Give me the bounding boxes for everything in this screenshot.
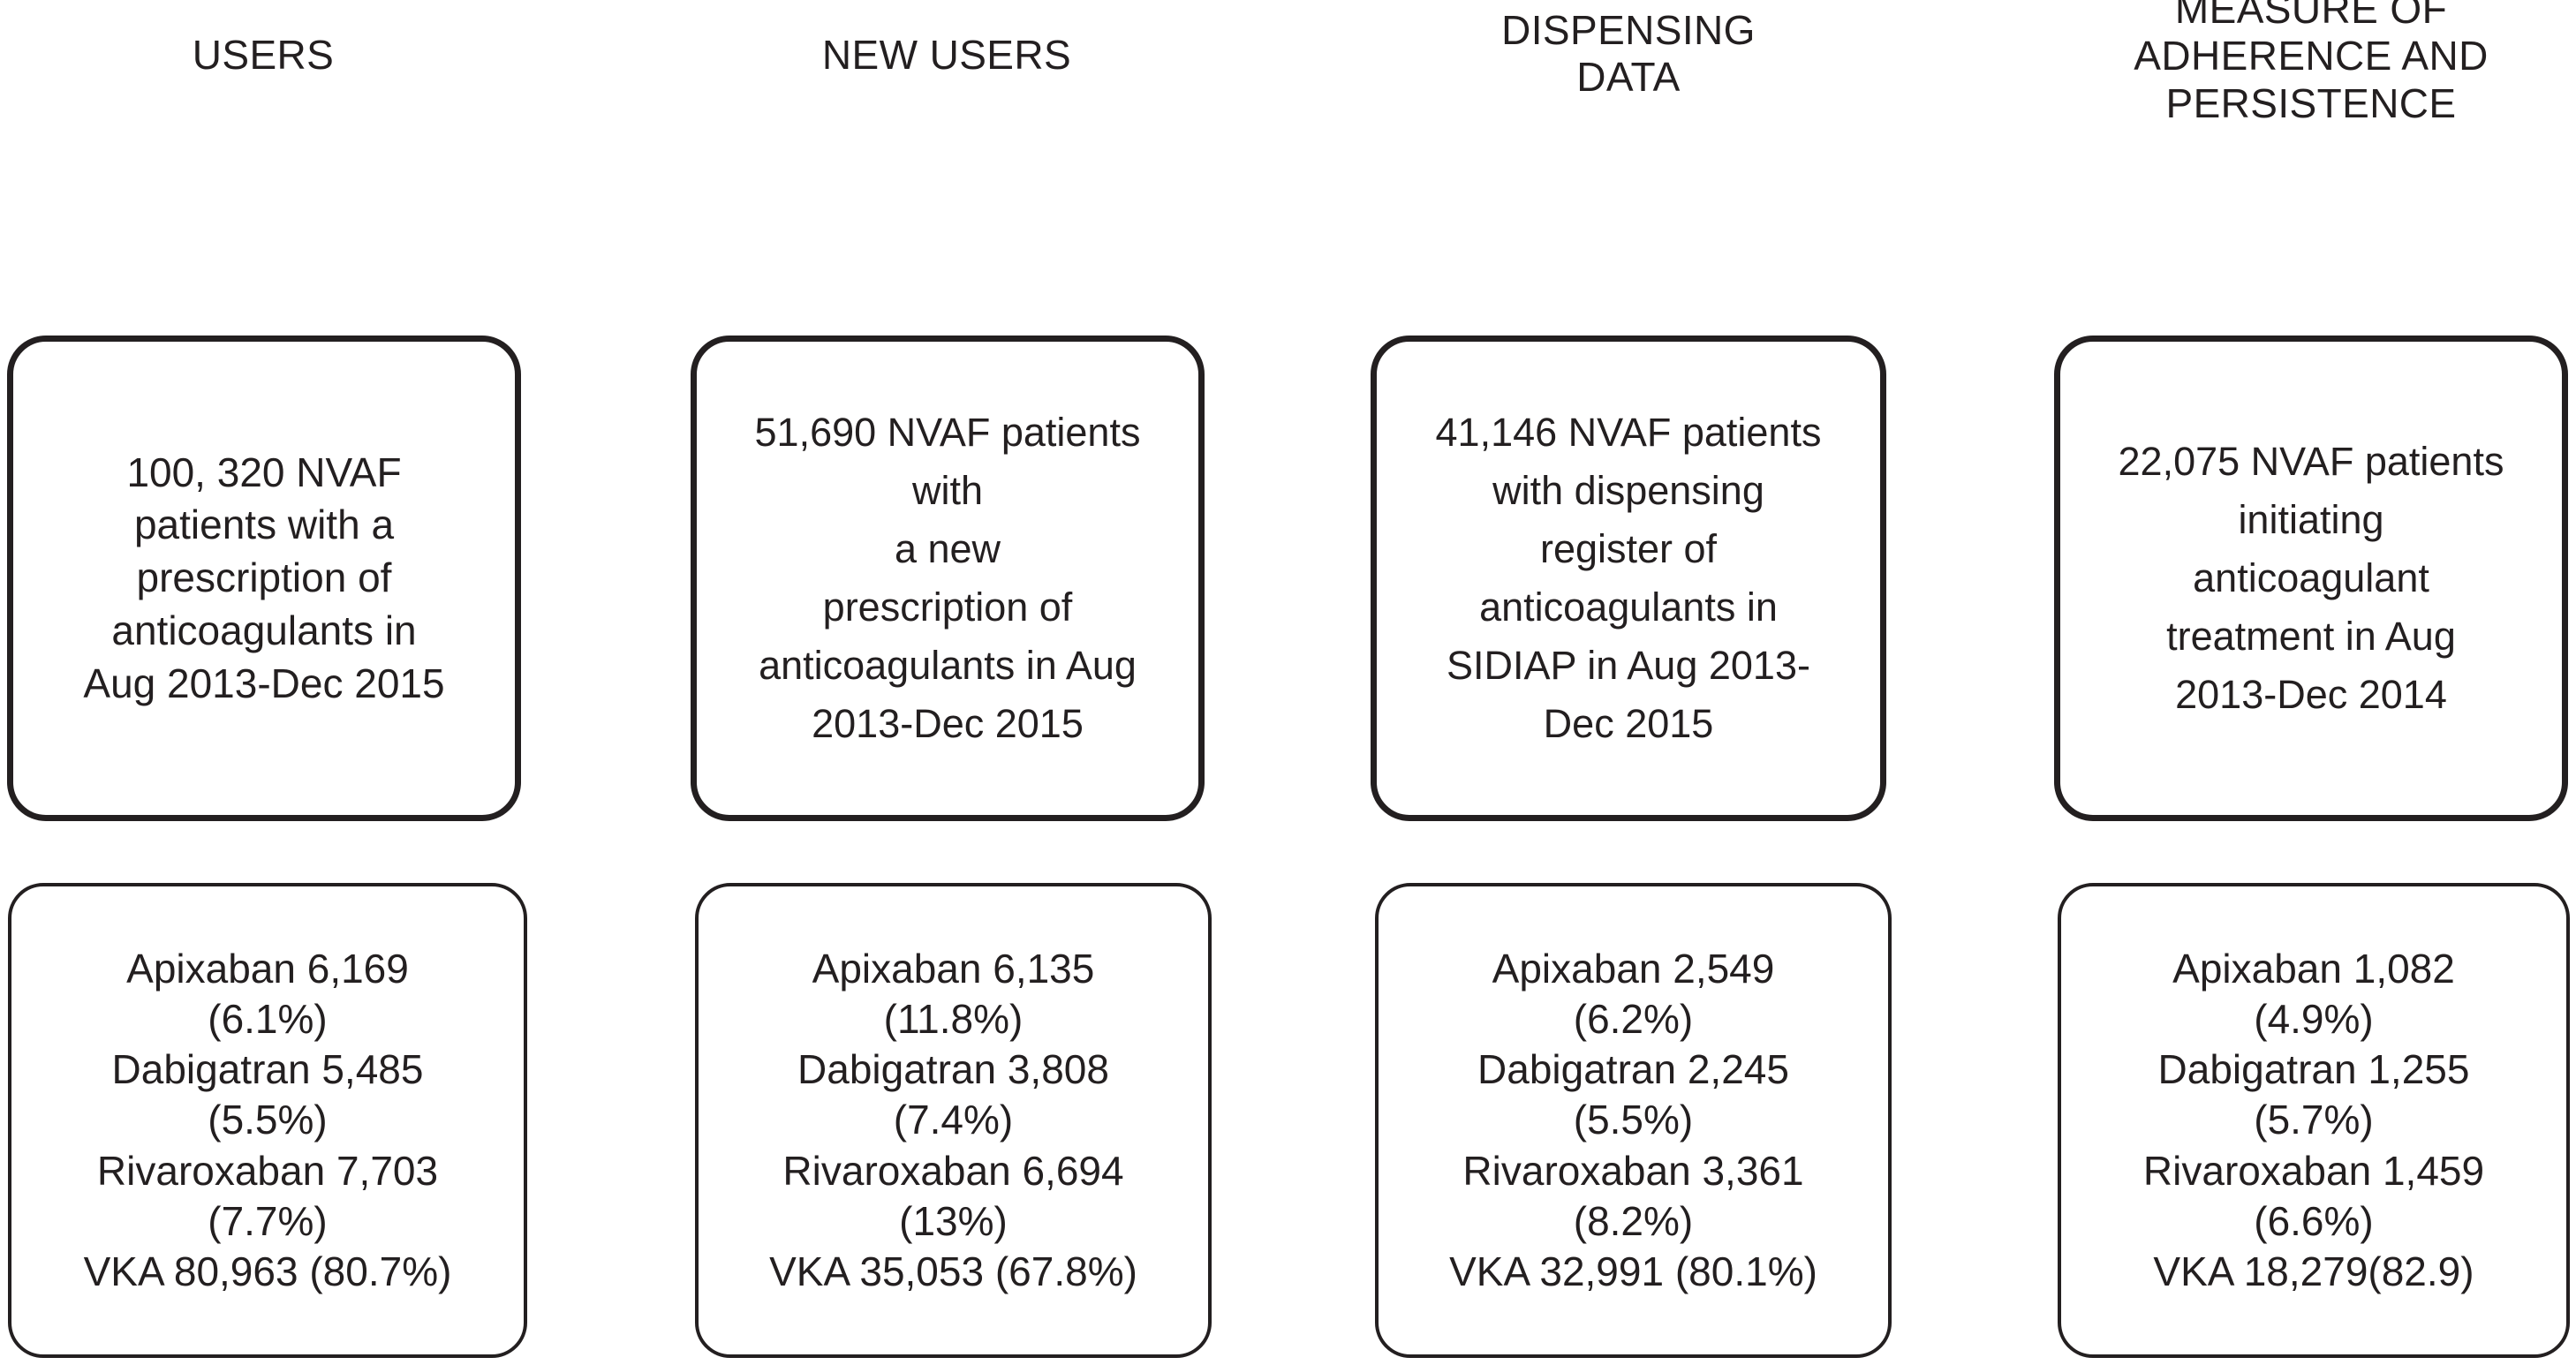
- column-header-new-users: NEW USERS: [691, 32, 1203, 79]
- summary-box-users-text: 100, 320 NVAF patients with a prescripti…: [13, 447, 515, 711]
- column-header-users: USERS: [7, 32, 519, 79]
- breakdown-box-dispensing-data: Apixaban 2,549 (6.2%) Dabigatran 2,245 (…: [1375, 883, 1892, 1358]
- breakdown-box-new-users-text: Apixaban 6,135 (11.8%) Dabigatran 3,808 …: [699, 944, 1208, 1296]
- summary-box-users: 100, 320 NVAF patients with a prescripti…: [7, 336, 521, 821]
- summary-box-new-users-text: 51,690 NVAF patients with a new prescrip…: [697, 403, 1198, 754]
- breakdown-box-measure-of-adherence: Apixaban 1,082 (4.9%) Dabigatran 1,255 (…: [2058, 883, 2570, 1358]
- flowchart-diagram: USERS NEW USERS DISPENSING DATA MEASURE …: [0, 0, 2576, 1365]
- breakdown-box-users: Apixaban 6,169 (6.1%) Dabigatran 5,485 (…: [8, 883, 527, 1358]
- summary-box-dispensing-data: 41,146 NVAF patients with dispensing reg…: [1371, 336, 1886, 821]
- column-header-measure-of-adherence-and-persistence: MEASURE OF ADHERENCE AND PERSISTENCE: [2054, 0, 2568, 127]
- breakdown-box-dispensing-data-text: Apixaban 2,549 (6.2%) Dabigatran 2,245 (…: [1379, 944, 1888, 1296]
- breakdown-box-measure-of-adherence-text: Apixaban 1,082 (4.9%) Dabigatran 1,255 (…: [2061, 944, 2566, 1296]
- breakdown-box-users-text: Apixaban 6,169 (6.1%) Dabigatran 5,485 (…: [11, 944, 524, 1296]
- summary-box-measure-of-adherence-text: 22,075 NVAF patients initiating anticoag…: [2060, 433, 2562, 725]
- summary-box-new-users: 51,690 NVAF patients with a new prescrip…: [691, 336, 1205, 821]
- summary-box-dispensing-data-text: 41,146 NVAF patients with dispensing reg…: [1377, 403, 1880, 754]
- column-header-dispensing-data: DISPENSING DATA: [1371, 7, 1886, 102]
- summary-box-measure-of-adherence: 22,075 NVAF patients initiating anticoag…: [2054, 336, 2568, 821]
- breakdown-box-new-users: Apixaban 6,135 (11.8%) Dabigatran 3,808 …: [695, 883, 1212, 1358]
